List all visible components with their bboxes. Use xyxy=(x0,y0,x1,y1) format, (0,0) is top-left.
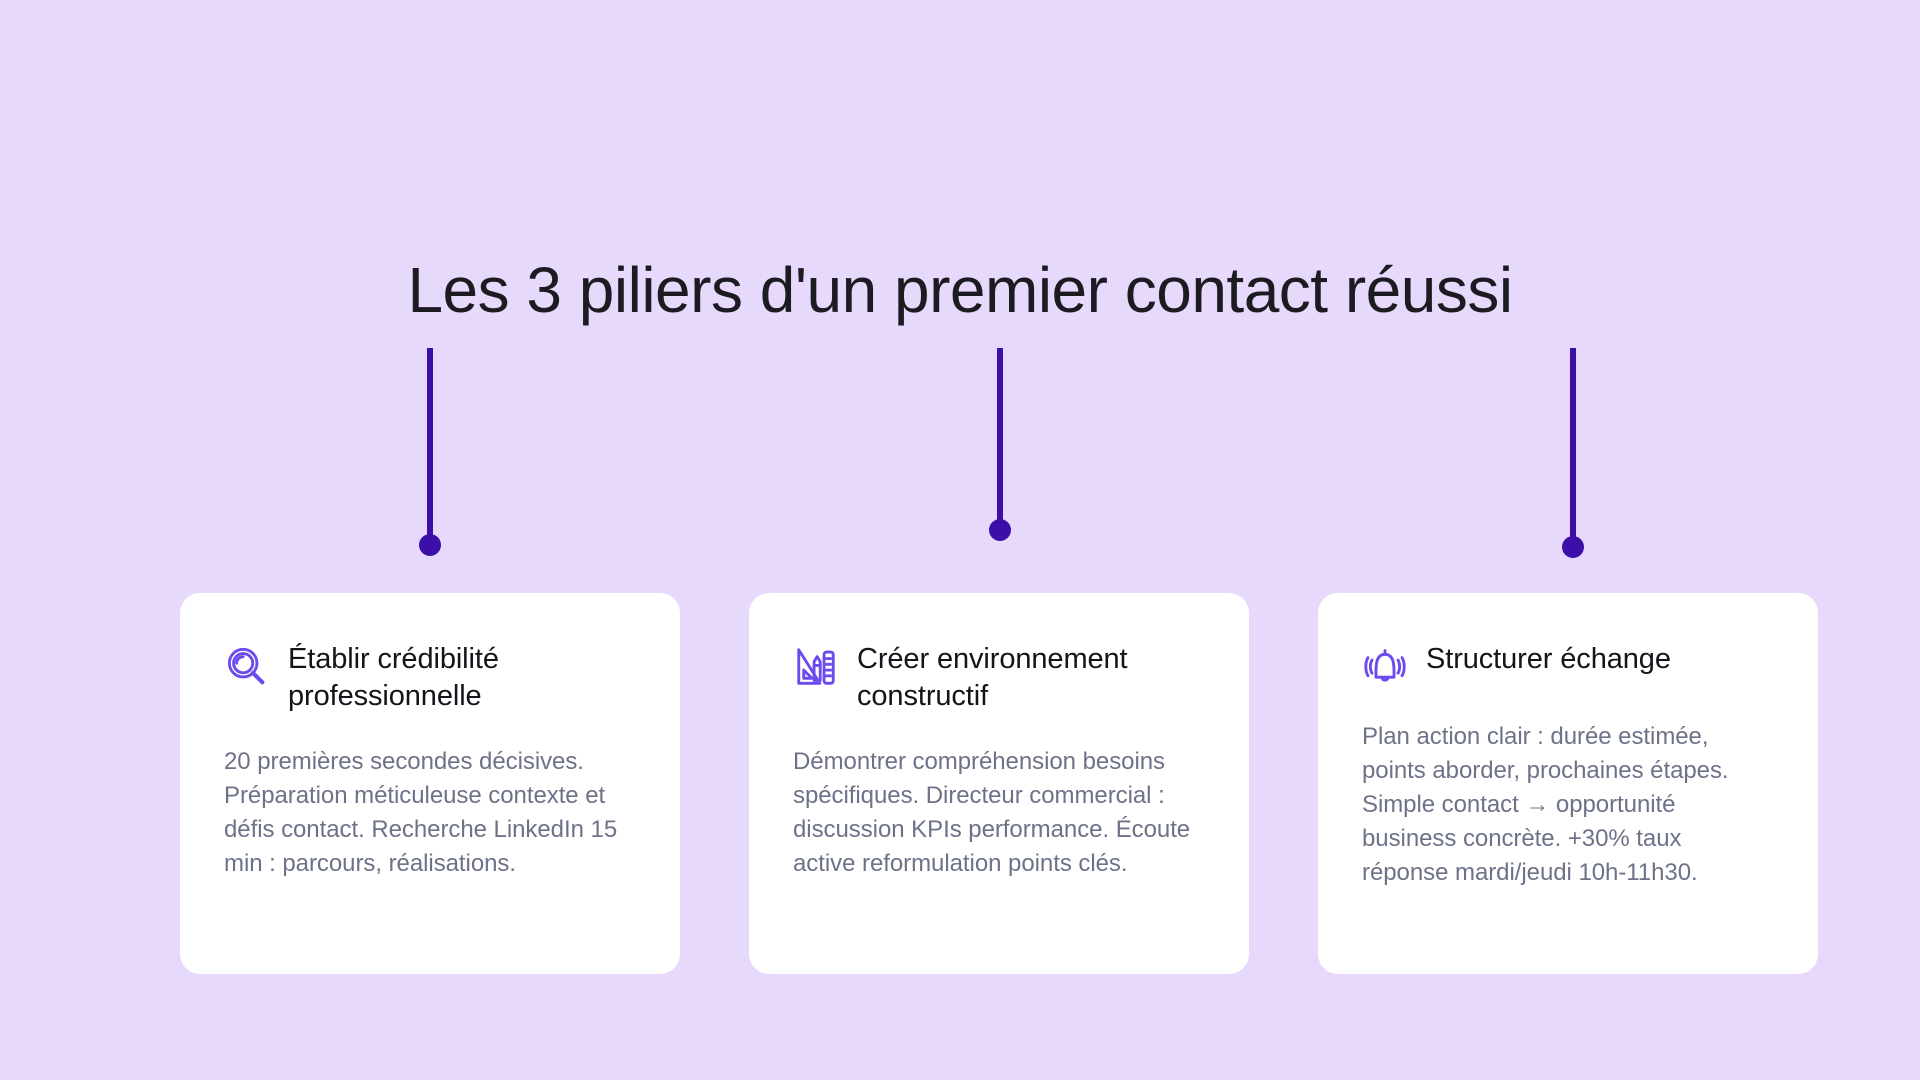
card-title: Créer environnement constructif xyxy=(857,641,1205,715)
pillar-card-echange: Structurer échange Plan action clair : d… xyxy=(1318,593,1818,974)
card-title: Établir crédibilité professionnelle xyxy=(288,641,636,715)
page-title: Les 3 piliers d'un premier contact réuss… xyxy=(0,255,1920,325)
card-title: Structurer échange xyxy=(1426,641,1671,678)
connector-3 xyxy=(1562,348,1584,558)
pillar-card-credibilite: Établir crédibilité professionnelle 20 p… xyxy=(180,593,680,974)
ringing-bell-icon xyxy=(1362,644,1408,690)
pillar-card-environnement: Créer environnement constructif Démontre… xyxy=(749,593,1249,974)
card-body: Plan action clair : durée estimée, point… xyxy=(1362,720,1774,890)
infographic-canvas: Les 3 piliers d'un premier contact réuss… xyxy=(0,0,1920,1080)
magnifier-icon xyxy=(224,644,270,690)
card-header: Structurer échange xyxy=(1362,641,1774,690)
card-header: Créer environnement constructif xyxy=(793,641,1205,715)
card-header: Établir crédibilité professionnelle xyxy=(224,641,636,715)
ruler-pencil-icon xyxy=(793,644,839,690)
card-body: Démontrer compréhension besoins spécifiq… xyxy=(793,745,1205,881)
connector-1 xyxy=(419,348,441,556)
pillar-card-row: Établir crédibilité professionnelle 20 p… xyxy=(180,593,1825,974)
card-body: 20 premières secondes décisives. Prépara… xyxy=(224,745,636,881)
connector-2 xyxy=(989,348,1011,541)
